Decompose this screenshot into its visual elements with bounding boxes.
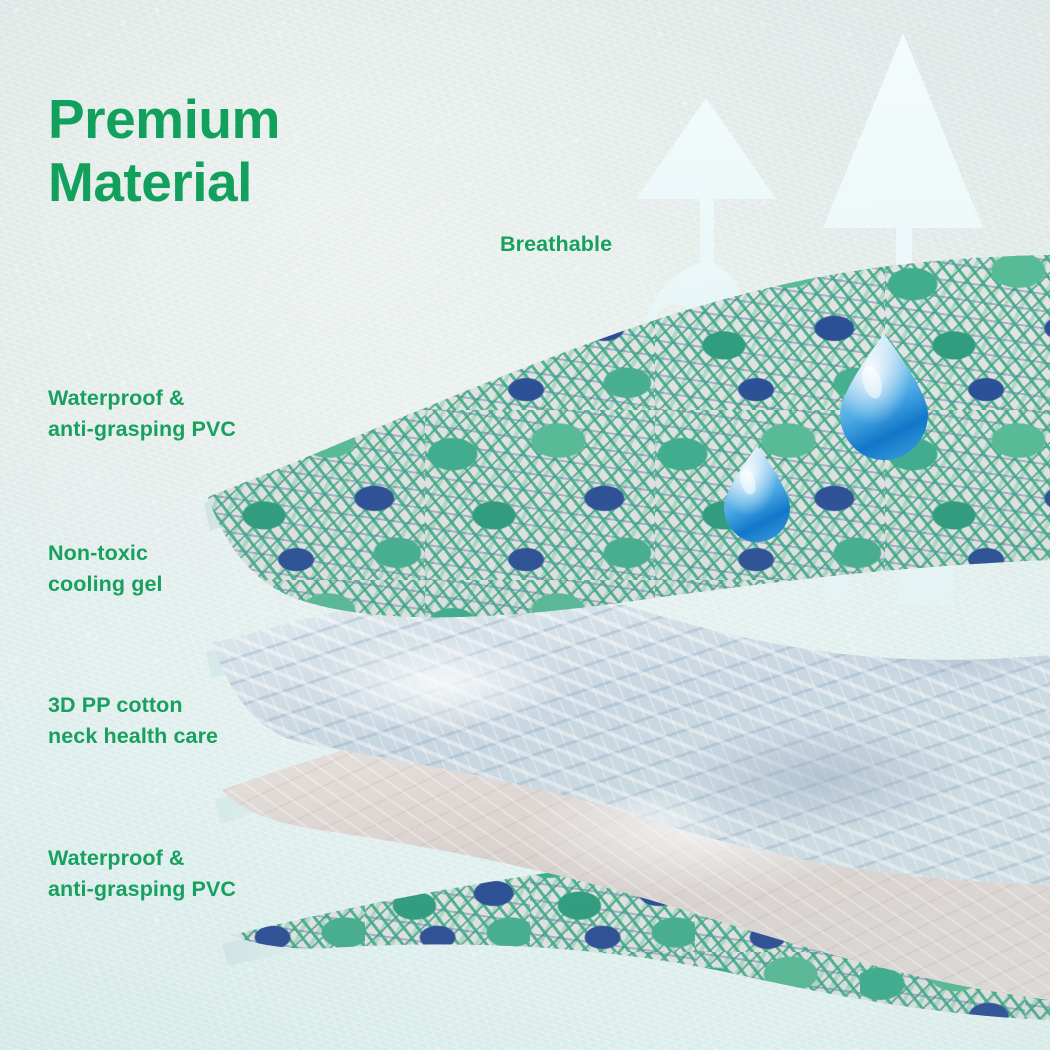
layer-label-bottom-pvc: Waterproof & anti-grasping PVC <box>48 843 236 904</box>
layer-label-pp-cotton: 3D PP cotton neck health care <box>48 690 218 751</box>
layer-label-cooling-gel: Non-toxic cooling gel <box>48 538 163 599</box>
infographic-canvas: Premium Material Breathable Waterproof &… <box>0 0 1050 1050</box>
page-title: Premium Material <box>48 88 280 213</box>
layer-label-top-pvc: Waterproof & anti-grasping PVC <box>48 383 236 444</box>
callout-breathable: Breathable <box>500 232 612 257</box>
